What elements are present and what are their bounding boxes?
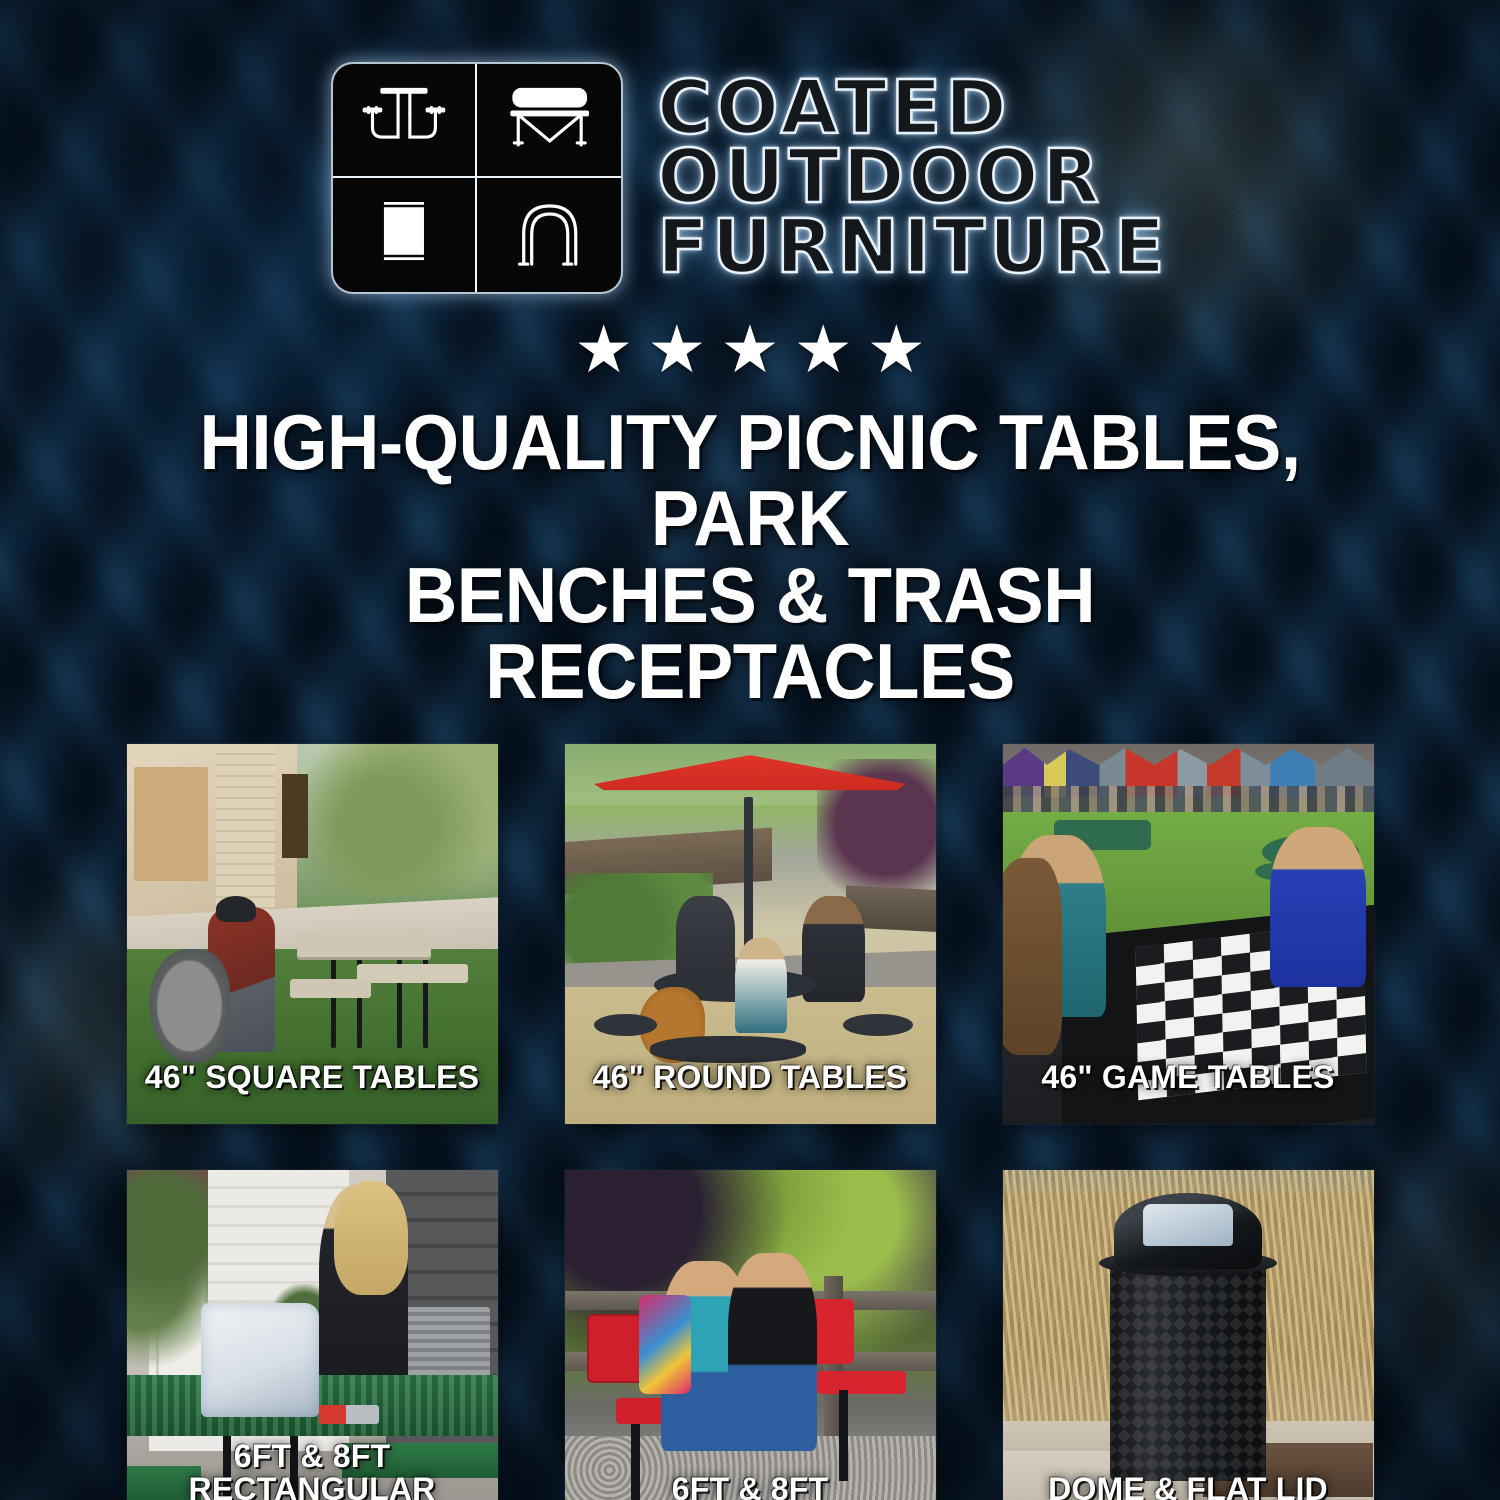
brand-line-1: COATED <box>657 74 1168 144</box>
picnic-table-icon <box>333 64 477 178</box>
caption-line-1: 46" GAME TABLES <box>1041 1059 1334 1095</box>
brand-line-3: FURNITURE <box>657 213 1168 283</box>
caption-line-1: 46" SQUARE TABLES <box>145 1059 479 1095</box>
trash-receptacle-icon <box>333 178 477 292</box>
product-tile-game-tables[interactable]: 46" GAME TABLES <box>1003 744 1374 1124</box>
product-photo-trash-receptacles <box>1003 1170 1374 1500</box>
star-icon-5: ★ <box>867 316 926 382</box>
tile-caption-round-tables: 46" ROUND TABLES <box>565 1061 936 1094</box>
caption-line-1: DOME & FLAT LID <box>1003 1473 1374 1500</box>
bike-rack-icon <box>477 178 621 292</box>
caption-line-1: 46" ROUND TABLES <box>593 1059 908 1095</box>
product-tile-trash-receptacles[interactable]: DOME & FLAT LID TRASH RECEPTACLES <box>1003 1170 1374 1500</box>
tile-caption-trash-receptacles: DOME & FLAT LID TRASH RECEPTACLES <box>1003 1473 1374 1500</box>
brand-logo: COATED OUTDOOR FURNITURE <box>331 62 1168 294</box>
product-tile-round-tables[interactable]: 46" ROUND TABLES <box>565 744 936 1124</box>
brand-line-2: OUTDOOR <box>657 143 1168 213</box>
product-tile-benches[interactable]: 6FT & 8FT BENCHES <box>565 1170 936 1500</box>
headline: HIGH-QUALITY PICNIC TABLES, PARK BENCHES… <box>132 404 1369 710</box>
star-icon-4: ★ <box>794 316 853 382</box>
star-icon-3: ★ <box>720 316 779 382</box>
caption-line-1: 6FT & 8FT <box>565 1473 936 1500</box>
tile-caption-game-tables: 46" GAME TABLES <box>1003 1061 1374 1094</box>
poster-content: COATED OUTDOOR FURNITURE ★ ★ ★ ★ ★ HIGH-… <box>0 0 1500 1500</box>
caption-line-2: RECTANGULAR TABLES <box>127 1473 498 1500</box>
star-icon-2: ★ <box>647 316 706 382</box>
tile-caption-square-tables: 46" SQUARE TABLES <box>127 1061 498 1094</box>
tile-caption-rectangular-tables: 6FT & 8FT RECTANGULAR TABLES <box>127 1440 498 1500</box>
product-tile-square-tables[interactable]: 46" SQUARE TABLES <box>127 744 498 1124</box>
park-bench-icon <box>477 64 621 178</box>
star-icon-1: ★ <box>574 316 633 382</box>
product-tile-rectangular-tables[interactable]: 6FT & 8FT RECTANGULAR TABLES <box>127 1170 498 1500</box>
product-grid: 46" SQUARE TABLES <box>127 744 1374 1500</box>
logo-mark <box>331 62 623 294</box>
headline-line-2: BENCHES & TRASH RECEPTACLES <box>132 557 1369 710</box>
headline-line-1: HIGH-QUALITY PICNIC TABLES, PARK <box>199 398 1300 562</box>
product-photo-benches <box>565 1170 936 1500</box>
brand-wordmark: COATED OUTDOOR FURNITURE <box>657 74 1168 283</box>
caption-line-1: 6FT & 8FT <box>127 1440 498 1473</box>
tile-caption-benches: 6FT & 8FT BENCHES <box>565 1473 936 1500</box>
star-rating: ★ ★ ★ ★ ★ <box>574 316 926 382</box>
